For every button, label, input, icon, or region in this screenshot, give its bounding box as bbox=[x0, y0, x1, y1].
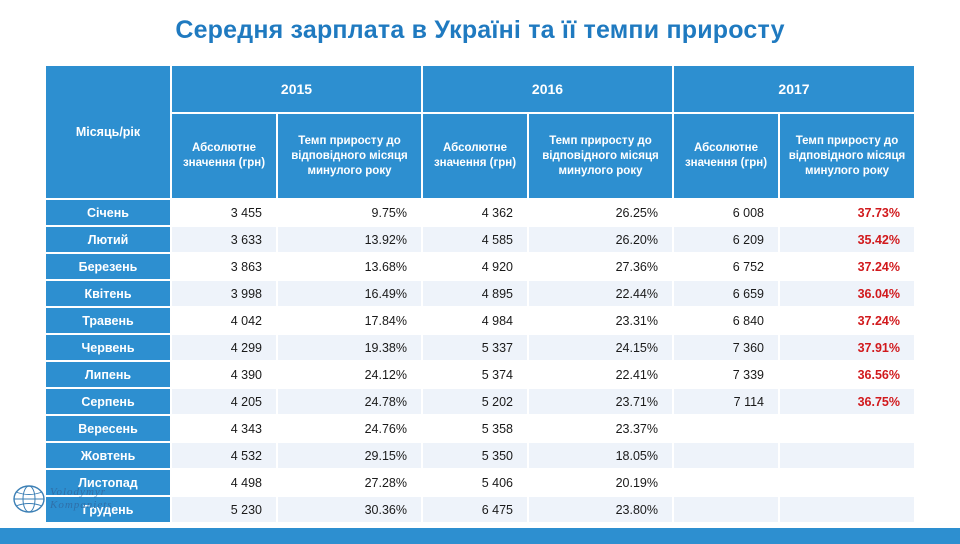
cell-growth-2017: 36.04% bbox=[779, 280, 914, 307]
cell-abs-2015: 3 863 bbox=[171, 253, 277, 280]
table-row: Лютий 3 633 13.92% 4 585 26.20% 6 209 35… bbox=[46, 226, 914, 253]
cell-growth-2016: 23.31% bbox=[528, 307, 673, 334]
cell-growth-2017: 36.56% bbox=[779, 361, 914, 388]
cell-abs-2016: 5 337 bbox=[422, 334, 528, 361]
table-row: Січень 3 455 9.75% 4 362 26.25% 6 008 37… bbox=[46, 199, 914, 226]
cell-abs-2017: 7 114 bbox=[673, 388, 779, 415]
row-month-label: Березень bbox=[46, 253, 171, 280]
cell-abs-2017 bbox=[673, 469, 779, 496]
row-month-label: Січень bbox=[46, 199, 171, 226]
table-row: Червень 4 299 19.38% 5 337 24.15% 7 360 … bbox=[46, 334, 914, 361]
year-header-2016: 2016 bbox=[422, 66, 673, 113]
cell-abs-2017: 7 360 bbox=[673, 334, 779, 361]
cell-abs-2015: 5 230 bbox=[171, 496, 277, 523]
cell-growth-2017 bbox=[779, 442, 914, 469]
cell-abs-2015: 4 532 bbox=[171, 442, 277, 469]
row-month-label: Серпень bbox=[46, 388, 171, 415]
footer-band bbox=[0, 528, 960, 544]
cell-growth-2016: 23.71% bbox=[528, 388, 673, 415]
cell-abs-2015: 4 498 bbox=[171, 469, 277, 496]
cell-growth-2016: 26.25% bbox=[528, 199, 673, 226]
cell-abs-2017 bbox=[673, 496, 779, 523]
cell-growth-2017: 35.42% bbox=[779, 226, 914, 253]
cell-abs-2015: 3 455 bbox=[171, 199, 277, 226]
cell-growth-2015: 13.68% bbox=[277, 253, 422, 280]
cell-growth-2015: 9.75% bbox=[277, 199, 422, 226]
cell-abs-2015: 3 998 bbox=[171, 280, 277, 307]
cell-growth-2017 bbox=[779, 496, 914, 523]
cell-abs-2017: 6 659 bbox=[673, 280, 779, 307]
cell-abs-2015: 4 390 bbox=[171, 361, 277, 388]
row-month-label: Квітень bbox=[46, 280, 171, 307]
logo-line-2: Kompaniets bbox=[50, 499, 113, 512]
salary-table: Місяць/рік 2015 2016 2017 Абсолютне знач… bbox=[46, 66, 914, 524]
cell-abs-2016: 6 475 bbox=[422, 496, 528, 523]
subheader-growth-2016: Темп приросту до відповідного місяця мин… bbox=[528, 113, 673, 199]
cell-abs-2016: 4 362 bbox=[422, 199, 528, 226]
cell-growth-2015: 24.78% bbox=[277, 388, 422, 415]
cell-growth-2016: 23.80% bbox=[528, 496, 673, 523]
cell-growth-2016: 18.05% bbox=[528, 442, 673, 469]
table-row: Березень 3 863 13.68% 4 920 27.36% 6 752… bbox=[46, 253, 914, 280]
cell-abs-2016: 4 895 bbox=[422, 280, 528, 307]
cell-abs-2017: 6 840 bbox=[673, 307, 779, 334]
page-title: Середня зарплата в Україні та її темпи п… bbox=[0, 16, 960, 45]
subheader-growth-2015: Темп приросту до відповідного місяця мин… bbox=[277, 113, 422, 199]
table-row: Жовтень 4 532 29.15% 5 350 18.05% bbox=[46, 442, 914, 469]
cell-growth-2016: 24.15% bbox=[528, 334, 673, 361]
row-month-label: Лютий bbox=[46, 226, 171, 253]
corner-label: Місяць/рік bbox=[46, 66, 171, 199]
cell-growth-2015: 30.36% bbox=[277, 496, 422, 523]
cell-abs-2016: 5 350 bbox=[422, 442, 528, 469]
cell-abs-2016: 4 920 bbox=[422, 253, 528, 280]
logo-text: Volodymyr Kompaniets bbox=[50, 486, 113, 512]
cell-growth-2016: 26.20% bbox=[528, 226, 673, 253]
table-row: Травень 4 042 17.84% 4 984 23.31% 6 840 … bbox=[46, 307, 914, 334]
cell-growth-2017: 37.24% bbox=[779, 253, 914, 280]
cell-growth-2015: 19.38% bbox=[277, 334, 422, 361]
cell-abs-2016: 5 358 bbox=[422, 415, 528, 442]
row-month-label: Жовтень bbox=[46, 442, 171, 469]
table-header-subcolumns: Абсолютне значення (грн) Темп приросту д… bbox=[46, 113, 914, 199]
cell-abs-2015: 4 205 bbox=[171, 388, 277, 415]
cell-growth-2017 bbox=[779, 415, 914, 442]
cell-growth-2015: 24.12% bbox=[277, 361, 422, 388]
table-row: Вересень 4 343 24.76% 5 358 23.37% bbox=[46, 415, 914, 442]
row-month-label: Травень bbox=[46, 307, 171, 334]
cell-growth-2017: 37.73% bbox=[779, 199, 914, 226]
logo-line-1: Volodymyr bbox=[50, 486, 113, 499]
cell-growth-2017 bbox=[779, 469, 914, 496]
cell-abs-2017 bbox=[673, 442, 779, 469]
row-month-label: Вересень bbox=[46, 415, 171, 442]
cell-growth-2015: 13.92% bbox=[277, 226, 422, 253]
table-header-years: Місяць/рік 2015 2016 2017 bbox=[46, 66, 914, 113]
row-month-label: Червень bbox=[46, 334, 171, 361]
cell-abs-2015: 3 633 bbox=[171, 226, 277, 253]
table-row: Липень 4 390 24.12% 5 374 22.41% 7 339 3… bbox=[46, 361, 914, 388]
subheader-abs-2017: Абсолютне значення (грн) bbox=[673, 113, 779, 199]
cell-abs-2015: 4 299 bbox=[171, 334, 277, 361]
cell-abs-2016: 5 202 bbox=[422, 388, 528, 415]
cell-growth-2015: 27.28% bbox=[277, 469, 422, 496]
cell-growth-2015: 24.76% bbox=[277, 415, 422, 442]
cell-growth-2016: 27.36% bbox=[528, 253, 673, 280]
table-row: Грудень 5 230 30.36% 6 475 23.80% bbox=[46, 496, 914, 523]
cell-abs-2015: 4 042 bbox=[171, 307, 277, 334]
globe-icon bbox=[12, 482, 46, 516]
row-month-label: Липень bbox=[46, 361, 171, 388]
year-header-2017: 2017 bbox=[673, 66, 914, 113]
cell-growth-2017: 37.91% bbox=[779, 334, 914, 361]
cell-abs-2017: 7 339 bbox=[673, 361, 779, 388]
cell-growth-2017: 36.75% bbox=[779, 388, 914, 415]
year-header-2015: 2015 bbox=[171, 66, 422, 113]
cell-abs-2015: 4 343 bbox=[171, 415, 277, 442]
table-row: Листопад 4 498 27.28% 5 406 20.19% bbox=[46, 469, 914, 496]
cell-abs-2016: 5 374 bbox=[422, 361, 528, 388]
cell-abs-2017: 6 008 bbox=[673, 199, 779, 226]
cell-abs-2017 bbox=[673, 415, 779, 442]
cell-growth-2016: 22.44% bbox=[528, 280, 673, 307]
salary-table-container: Місяць/рік 2015 2016 2017 Абсолютне знач… bbox=[46, 66, 914, 524]
brand-logo: Volodymyr Kompaniets bbox=[12, 478, 172, 522]
cell-abs-2016: 4 984 bbox=[422, 307, 528, 334]
cell-growth-2016: 22.41% bbox=[528, 361, 673, 388]
cell-growth-2015: 16.49% bbox=[277, 280, 422, 307]
subheader-growth-2017: Темп приросту до відповідного місяця мин… bbox=[779, 113, 914, 199]
cell-abs-2016: 5 406 bbox=[422, 469, 528, 496]
subheader-abs-2016: Абсолютне значення (грн) bbox=[422, 113, 528, 199]
cell-growth-2015: 29.15% bbox=[277, 442, 422, 469]
cell-abs-2017: 6 209 bbox=[673, 226, 779, 253]
subheader-abs-2015: Абсолютне значення (грн) bbox=[171, 113, 277, 199]
cell-abs-2016: 4 585 bbox=[422, 226, 528, 253]
table-row: Квітень 3 998 16.49% 4 895 22.44% 6 659 … bbox=[46, 280, 914, 307]
cell-growth-2016: 23.37% bbox=[528, 415, 673, 442]
table-row: Серпень 4 205 24.78% 5 202 23.71% 7 114 … bbox=[46, 388, 914, 415]
cell-abs-2017: 6 752 bbox=[673, 253, 779, 280]
cell-growth-2016: 20.19% bbox=[528, 469, 673, 496]
cell-growth-2015: 17.84% bbox=[277, 307, 422, 334]
cell-growth-2017: 37.24% bbox=[779, 307, 914, 334]
